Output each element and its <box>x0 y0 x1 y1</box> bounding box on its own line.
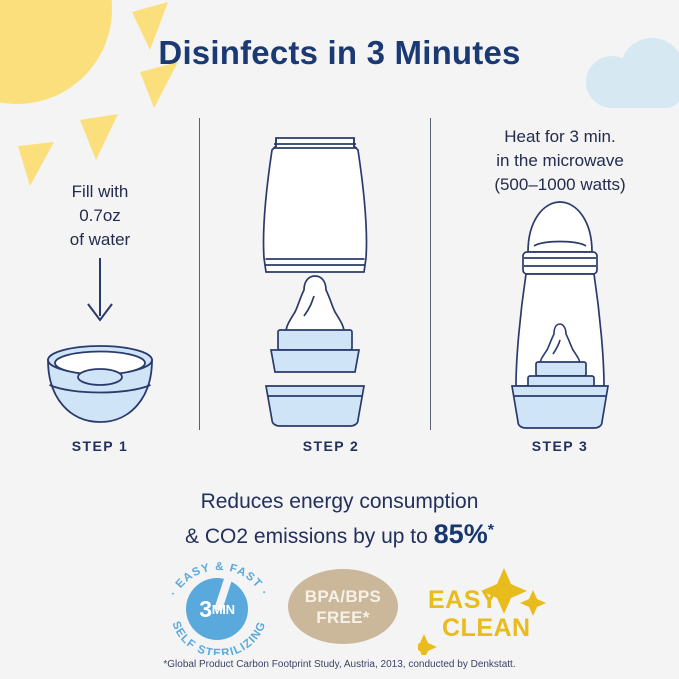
step-2-label: STEP 2 <box>231 438 431 454</box>
badge-row: · EASY & FAST · SELF STERILIZING 3MIN BP… <box>0 560 679 655</box>
claim-percent-value: 85% <box>434 519 488 549</box>
disassembled-bottle-icon <box>240 120 390 430</box>
water-bowl-icon <box>30 336 170 436</box>
claim-line-1: Reduces energy consumption <box>0 487 679 516</box>
divider-step1-step2 <box>199 118 200 430</box>
seal-number: 3 <box>199 596 212 623</box>
step-1: Fill with 0.7oz of water <box>13 180 187 252</box>
step-3: Heat for 3 min. in the microwave (500–10… <box>462 125 658 197</box>
step-3-caption-line-1: Heat for 3 min. <box>462 125 658 149</box>
footnote: *Global Product Carbon Footprint Study, … <box>0 659 679 670</box>
assembled-bottle-icon <box>490 196 630 436</box>
step-1-caption-line-1: Fill with <box>13 180 187 204</box>
badge-bpa-bps-free: BPA/BPS FREE* <box>288 569 398 644</box>
step-3-caption-line-2: in the microwave <box>462 149 658 173</box>
badge-easy-clean: EASY CLEAN <box>418 560 553 655</box>
seal-center-text: 3MIN <box>186 578 248 640</box>
seal-unit: MIN <box>212 602 235 617</box>
bpa-line-2: FREE* <box>316 607 369 628</box>
poster-canvas: Disinfects in 3 Minutes Fill with 0.7oz … <box>0 0 679 679</box>
divider-step2-step3 <box>430 118 431 430</box>
claim-line-2-prefix: & CO2 emissions by up to <box>185 525 434 548</box>
claim-line-2: & CO2 emissions by up to 85%* <box>0 516 679 551</box>
page-title: Disinfects in 3 Minutes <box>0 34 679 72</box>
step-1-label: STEP 1 <box>0 438 200 454</box>
step-1-caption-line-2: 0.7oz <box>13 204 187 228</box>
badge-self-sterilizing: · EASY & FAST · SELF STERILIZING 3MIN <box>160 560 278 655</box>
step-3-label: STEP 3 <box>460 438 660 454</box>
step-1-caption: Fill with 0.7oz of water <box>13 180 187 252</box>
step-3-caption-line-3: (500–1000 watts) <box>462 173 658 197</box>
easy-clean-line-2: CLEAN <box>442 614 531 643</box>
energy-claim: Reduces energy consumption & CO2 emissio… <box>0 487 679 551</box>
bpa-line-1: BPA/BPS <box>305 586 381 607</box>
claim-asterisk: * <box>488 522 494 539</box>
easy-clean-line-1: EASY <box>428 586 498 615</box>
step-3-caption: Heat for 3 min. in the microwave (500–10… <box>462 125 658 197</box>
down-arrow-icon <box>70 258 130 330</box>
step-1-caption-line-3: of water <box>13 228 187 252</box>
